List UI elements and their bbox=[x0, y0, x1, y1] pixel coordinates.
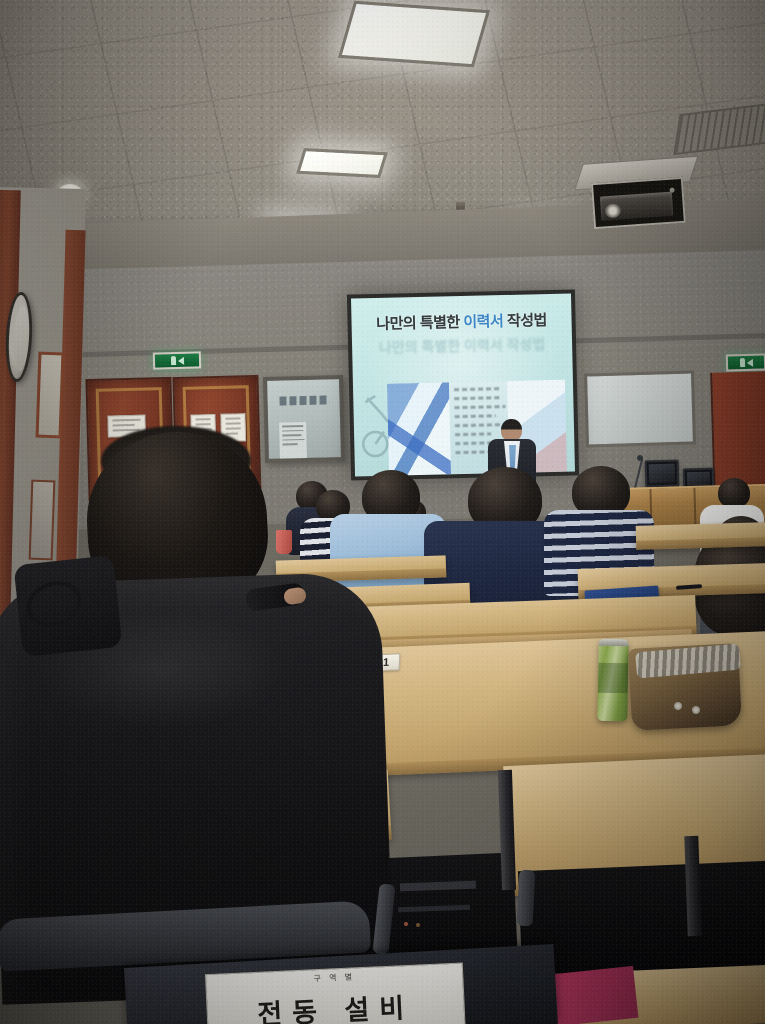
notice-board-title bbox=[279, 395, 329, 405]
slide-abstract-blue-graphic bbox=[387, 382, 451, 475]
head bbox=[718, 478, 750, 508]
slide-title-highlight: 이력서 bbox=[463, 313, 503, 331]
framed-picture bbox=[36, 352, 65, 439]
slide-title-part1: 나만의 특별한 bbox=[376, 314, 464, 333]
handbag-clasp bbox=[674, 702, 682, 710]
ceiling-light-panel bbox=[296, 148, 388, 178]
exit-arrow-icon bbox=[746, 358, 752, 366]
emergency-exit-sign bbox=[153, 351, 201, 369]
ceiling-light-panel bbox=[338, 1, 490, 67]
can-label-band bbox=[598, 663, 629, 694]
microphone-head-icon bbox=[637, 455, 643, 461]
clock-face bbox=[12, 305, 30, 372]
desk-back-right bbox=[636, 522, 765, 550]
chair-post bbox=[517, 870, 536, 927]
exit-arrow-icon bbox=[177, 356, 183, 364]
can-top bbox=[599, 639, 629, 647]
emergency-exit-sign bbox=[726, 353, 765, 371]
projector-mount bbox=[669, 187, 674, 192]
drink-can bbox=[597, 639, 628, 722]
projector-recess bbox=[591, 177, 686, 229]
slide-title-part2: 작성법 bbox=[503, 312, 547, 330]
slide-artwork bbox=[387, 380, 567, 476]
running-man-icon bbox=[739, 358, 744, 367]
placard-main-text: 전동 설비 bbox=[207, 984, 465, 1024]
whiteboard bbox=[584, 370, 696, 447]
running-man-icon bbox=[170, 356, 175, 365]
presenter-head bbox=[501, 419, 522, 441]
desk-shadow-gap bbox=[518, 861, 765, 975]
handbag-clasp bbox=[692, 706, 700, 714]
av-equipment-led bbox=[404, 922, 408, 926]
placard-paper: 구 역 별 전동 설비 bbox=[205, 963, 466, 1024]
lecture-hall-photo: 나만의 특별한 이력서 작성법 나만의 특별한 이력서 작성법 bbox=[0, 0, 765, 1024]
projector-icon bbox=[584, 162, 692, 231]
av-equipment-led bbox=[416, 923, 420, 927]
